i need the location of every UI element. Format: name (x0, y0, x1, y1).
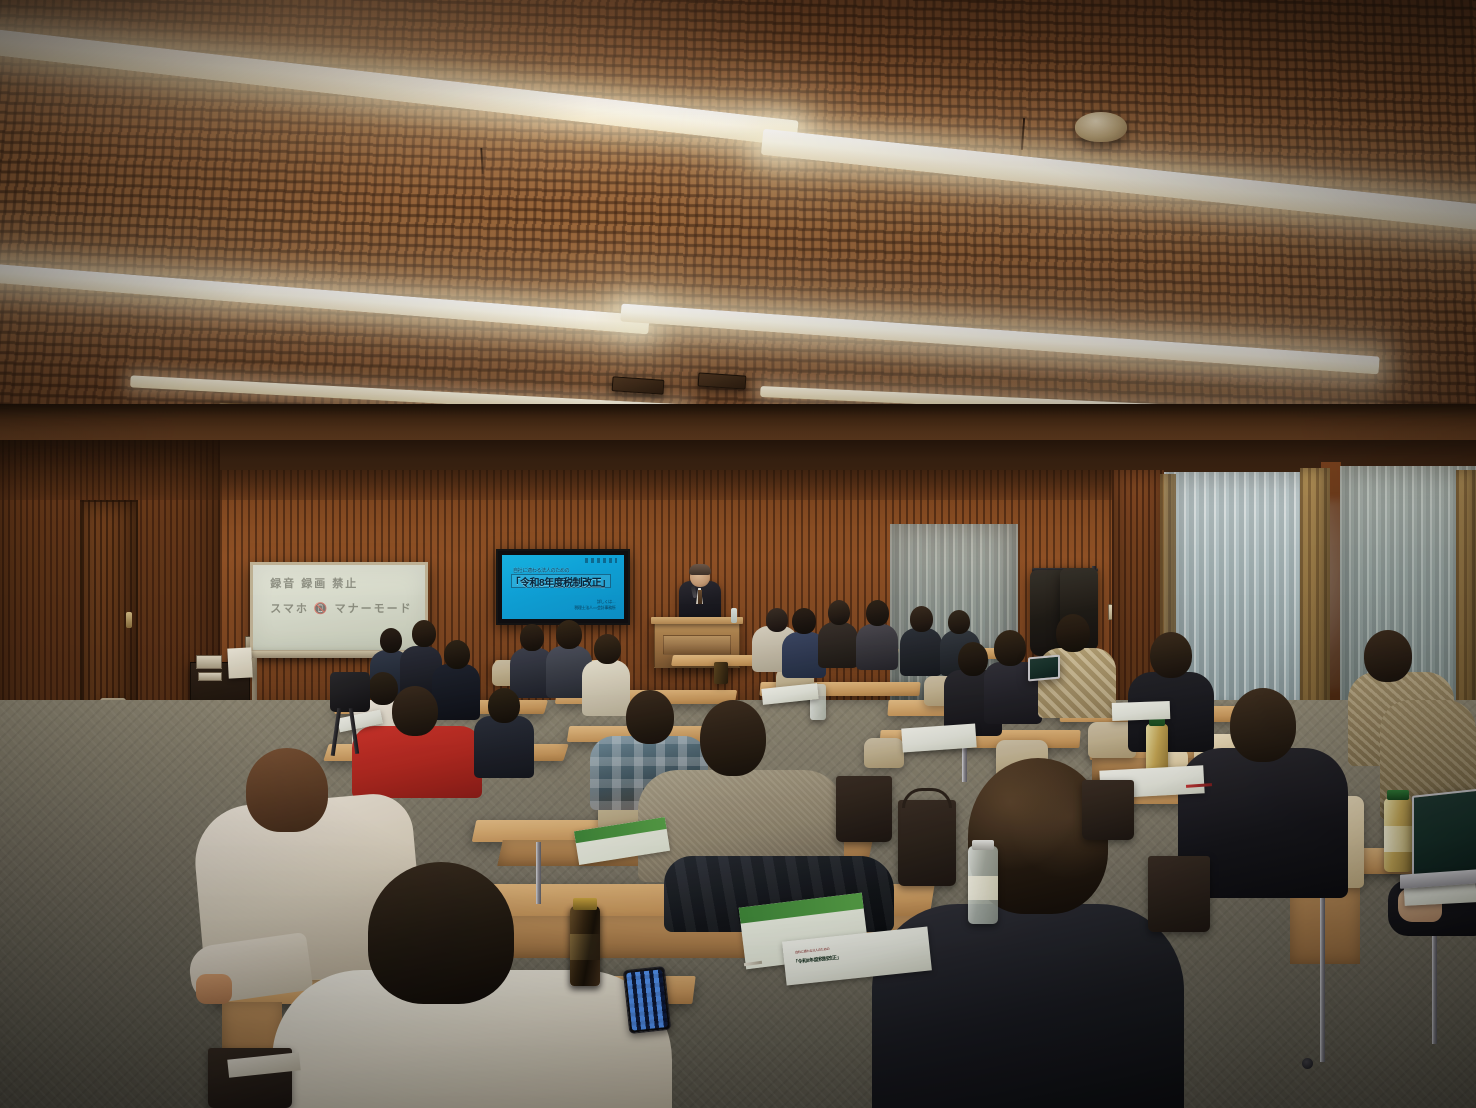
attendee-head (594, 634, 621, 664)
seminar-handout[interactable] (901, 723, 976, 752)
attendee-head (1364, 630, 1412, 682)
lectern-top-surface (651, 617, 743, 624)
attendee-head (766, 608, 788, 632)
attendee-head (994, 630, 1026, 666)
attendee-hand (196, 974, 232, 1004)
attendee-head (412, 620, 436, 647)
attendee-head (368, 862, 514, 1004)
attendee-head (958, 642, 988, 676)
attendee-torso (900, 628, 942, 676)
presenter-hair (689, 564, 711, 575)
slide-footer-line2: 税理士法人○○会計事務所 (574, 605, 615, 611)
smartphone[interactable] (623, 966, 671, 1034)
attendee-head (626, 690, 674, 744)
attendee-torso (818, 622, 858, 668)
attendee-torso (474, 716, 534, 778)
attendee-head (1230, 688, 1296, 762)
chair[interactable] (864, 738, 904, 768)
av-paper-sheet (227, 647, 253, 678)
attendee-head (520, 624, 544, 651)
coffee-can[interactable] (714, 662, 728, 684)
camera-tripod (330, 672, 370, 712)
slide-header-rule (585, 558, 617, 563)
bottle-cap (972, 840, 994, 850)
attendee-head (792, 608, 816, 634)
attendee-torso (582, 660, 630, 716)
backpack[interactable] (836, 776, 892, 842)
slide-footer: 詳しくは… 税理士法人○○会計事務所 (574, 599, 615, 611)
av-device (198, 672, 222, 681)
curtain-drape (1300, 468, 1330, 730)
attendee-head (488, 688, 520, 723)
attendee-head (866, 600, 889, 626)
whiteboard-line-2: スマホ 📵 マナーモード (270, 602, 414, 618)
slide-title-box: 「令和8年度税制改正」 (511, 574, 611, 588)
lectern-water-bottle (731, 608, 737, 623)
laptop-screen[interactable] (1412, 788, 1476, 882)
bottle-cap (1387, 790, 1409, 800)
lectern-front-panel (663, 635, 731, 655)
attendee-head (700, 700, 766, 776)
attendee-head-brown-hair (246, 748, 328, 832)
bag-on-floor[interactable] (1148, 856, 1210, 932)
smoke-detector-icon (1075, 112, 1127, 142)
whiteboard-line-1: 録音 録画 禁止 (270, 577, 414, 593)
bottle-cap (573, 898, 597, 910)
attendee-torso (856, 624, 898, 670)
bottle-label (570, 934, 600, 960)
desk-caster (1302, 1058, 1313, 1069)
attendee-head (948, 610, 970, 634)
attendee-head (380, 628, 402, 653)
seminar-room-photo: 自社に適わる法人のための 「令和8年度税制改正」 詳しくは… 税理士法人○○会計… (0, 0, 1476, 1108)
av-device (196, 655, 222, 669)
presenter-tie (698, 590, 702, 604)
attendee-head (556, 620, 582, 649)
seminar-handout[interactable] (1112, 701, 1171, 721)
attendee-torso (432, 664, 480, 720)
laptop-screen[interactable] (1028, 655, 1060, 682)
smartphone-screen[interactable] (626, 969, 668, 1030)
attendee-head (444, 640, 470, 669)
attendee-head (828, 600, 850, 625)
curtain-drape (1456, 470, 1476, 732)
attendee-torso-red-jacket (352, 726, 482, 798)
attendee-head (910, 606, 933, 632)
handbag[interactable] (898, 800, 956, 886)
door-handle[interactable] (126, 612, 132, 628)
projection-screen: 自社に適わる法人のための 「令和8年度税制改正」 詳しくは… 税理士法人○○会計… (496, 549, 630, 625)
projection-screen-image: 自社に適わる法人のための 「令和8年度税制改正」 詳しくは… 税理士法人○○会計… (502, 555, 624, 619)
desk-leg (536, 842, 541, 904)
slide-title-text: 「令和8年度税制改正」 (511, 574, 611, 589)
attendee-head (392, 686, 438, 736)
attendee-head (1150, 632, 1192, 678)
bottle-label (1384, 826, 1412, 852)
bottle-label (968, 876, 998, 900)
desk-leg (1320, 872, 1325, 1062)
bag-on-floor[interactable] (1082, 780, 1134, 840)
attendee-head (1056, 614, 1090, 652)
